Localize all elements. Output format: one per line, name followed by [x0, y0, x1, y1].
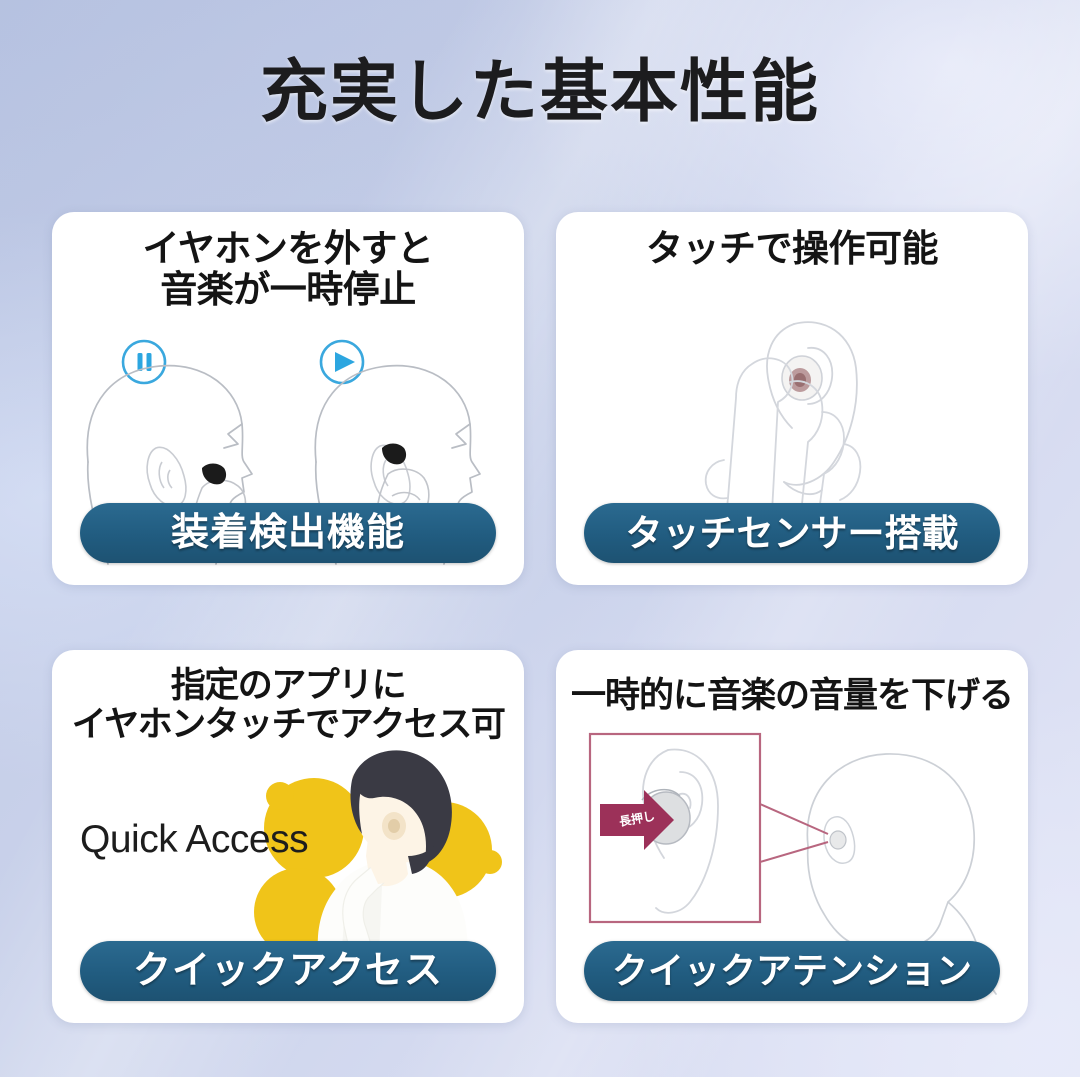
- feature-card-quick-attention[interactable]: 一時的に音楽の音量を下げる: [556, 650, 1028, 1023]
- badge-touch-sensor[interactable]: タッチセンサー搭載: [584, 503, 1000, 563]
- quick-access-label: Quick Access: [80, 818, 308, 862]
- badge-label: クイックアテンション: [612, 953, 972, 989]
- feature-card-quick-access[interactable]: 指定のアプリに イヤホンタッチでアクセス可: [52, 650, 524, 1023]
- badge-label: 装着検出機能: [171, 514, 405, 552]
- promo-page: 充実した基本性能 イヤホンを外すと 音楽が一時停止: [0, 0, 1080, 1077]
- badge-quick-attention[interactable]: クイックアテンション: [584, 941, 1000, 1001]
- feature-card-grid: イヤホンを外すと 音楽が一時停止: [52, 212, 1028, 1024]
- badge-label: クイックアクセス: [133, 952, 443, 990]
- badge-label: タッチセンサー搭載: [626, 515, 959, 552]
- badge-wear-detection[interactable]: 装着検出機能: [80, 503, 496, 563]
- feature-card-touch-sensor[interactable]: タッチで操作可能: [556, 212, 1028, 585]
- play-icon: [321, 341, 363, 383]
- pause-icon: [123, 341, 165, 383]
- badge-quick-access[interactable]: クイックアクセス: [80, 941, 496, 1001]
- page-title: 充実した基本性能: [0, 58, 1080, 126]
- feature-card-wear-detection[interactable]: イヤホンを外すと 音楽が一時停止: [52, 212, 524, 585]
